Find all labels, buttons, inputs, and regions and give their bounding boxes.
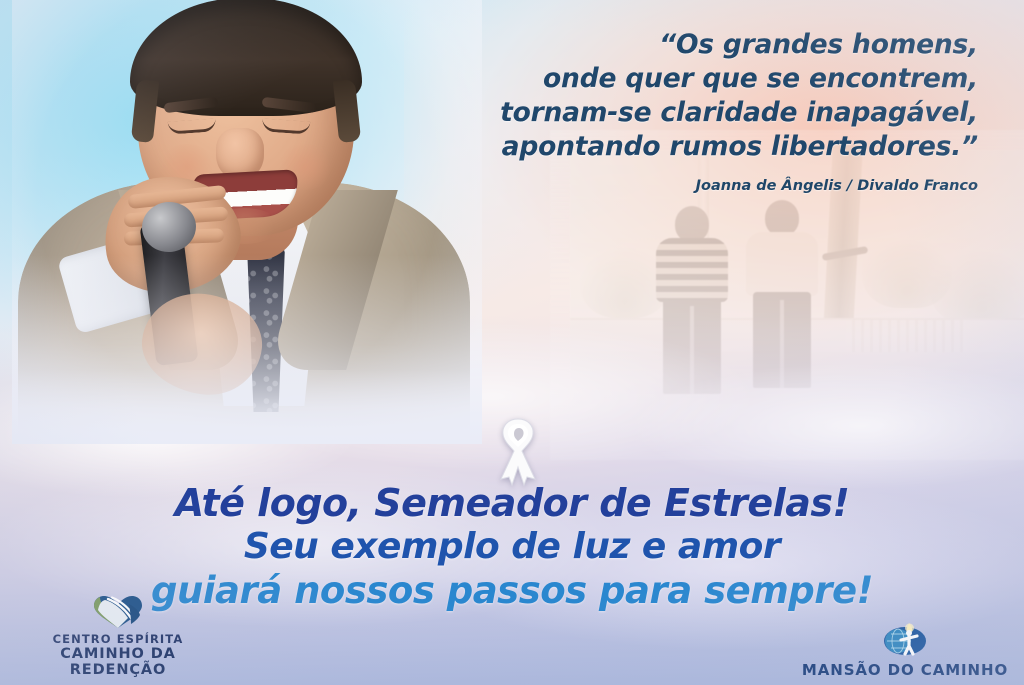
headline-line-2: Seu exemplo de luz e amor [0,529,1024,565]
quote-block: “Os grandes homens, onde quer que se enc… [418,28,978,194]
quote-attribution: Joanna de Ângelis / Divaldo Franco [418,178,978,194]
quote-line-4: apontando rumos libertadores.” [418,130,978,164]
heart-hands-icon [10,594,226,630]
quote-line-2: onde quer que se encontrem, [418,62,978,96]
headline-line-1: Até logo, Semeador de Estrelas! [0,484,1024,522]
quote-line-1: “Os grandes homens, [418,28,978,62]
logo-centro-espirita: CENTRO ESPÍRITA CAMINHO DA REDENÇÃO [10,594,226,679]
logo-mansao-do-caminho: MANSÃO DO CAMINHO [800,621,1010,679]
globe-figure-torch-icon [800,621,1010,657]
logo-left-line-1: CENTRO ESPÍRITA [10,633,226,646]
divaldo-franco-portrait [12,0,482,444]
portrait-hair [130,0,362,116]
memorial-poster: “Os grandes homens, onde quer que se enc… [0,0,1024,685]
quote-line-3: tornam-se claridade inapagável, [418,96,978,130]
headline-block: Até logo, Semeador de Estrelas! Seu exem… [0,484,1024,609]
logo-left-line-2: CAMINHO DA REDENÇÃO [10,646,226,679]
logo-right-line-1: MANSÃO DO CAMINHO [800,661,1010,679]
white-ribbon-icon [487,413,549,489]
